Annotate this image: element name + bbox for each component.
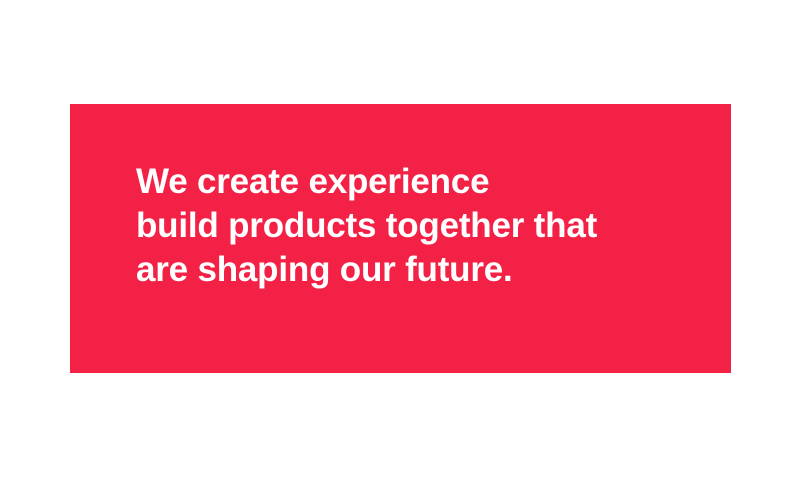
hero-banner-panel: We create experience build products toge… [70, 104, 731, 373]
hero-headline-line-2: build products together that [136, 204, 716, 248]
page-canvas: We create experience build products toge… [0, 0, 800, 480]
hero-headline-line-3: are shaping our future. [136, 248, 716, 292]
hero-headline: We create experience build products toge… [136, 160, 716, 292]
hero-headline-line-1: We create experience [136, 160, 716, 204]
